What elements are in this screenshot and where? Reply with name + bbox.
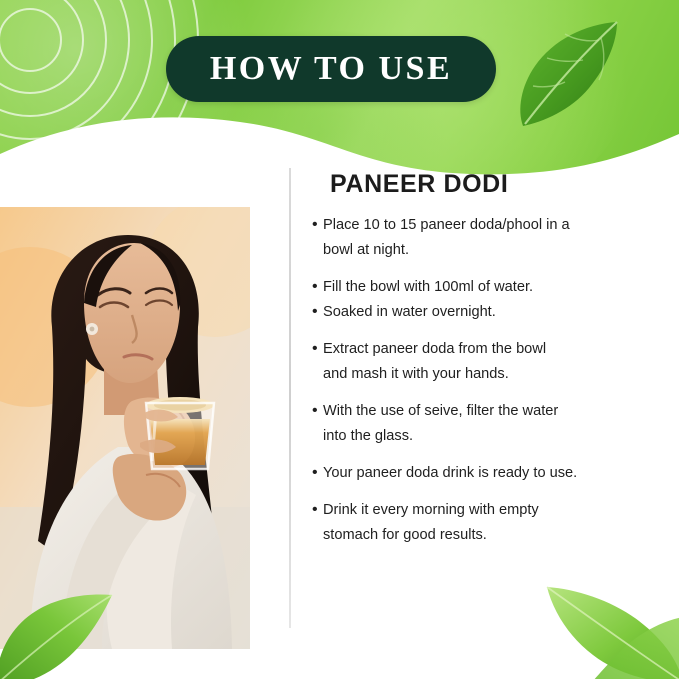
banner-title: HOW TO USE bbox=[210, 50, 452, 88]
bullet-icon: • bbox=[312, 300, 323, 324]
bullet-icon: • bbox=[312, 399, 323, 423]
instruction-group-1: • Place 10 to 15 paneer doda/phool in a … bbox=[312, 213, 664, 262]
list-item-text: bowl at night. bbox=[323, 238, 664, 262]
list-item-text: Your paneer doda drink is ready to use. bbox=[323, 461, 664, 485]
list-item-continuation: and mash it with your hands. bbox=[312, 362, 664, 386]
list-item: • Fill the bowl with 100ml of water. bbox=[312, 275, 664, 299]
vertical-divider bbox=[289, 168, 291, 628]
list-item-text: With the use of seive, filter the water bbox=[323, 399, 664, 423]
list-item-continuation: stomach for good results. bbox=[312, 523, 664, 547]
instruction-group-2: • Fill the bowl with 100ml of water. • S… bbox=[312, 275, 664, 324]
instruction-group-6: • Drink it every morning with empty stom… bbox=[312, 498, 664, 547]
instruction-group-3: • Extract paneer doda from the bowl and … bbox=[312, 337, 664, 386]
list-item-continuation: into the glass. bbox=[312, 424, 664, 448]
list-item: • Your paneer doda drink is ready to use… bbox=[312, 461, 664, 485]
list-item-text: Drink it every morning with empty bbox=[323, 498, 664, 522]
list-item-text: Fill the bowl with 100ml of water. bbox=[323, 275, 664, 299]
list-item-text: stomach for good results. bbox=[323, 523, 664, 547]
how-to-use-infographic: PANEER DODI • Place 10 to 15 paneer doda… bbox=[0, 0, 679, 679]
product-usage-photo bbox=[0, 207, 250, 649]
instruction-group-4: • With the use of seive, filter the wate… bbox=[312, 399, 664, 448]
instruction-group-5: • Your paneer doda drink is ready to use… bbox=[312, 461, 664, 485]
list-item: • Extract paneer doda from the bowl bbox=[312, 337, 664, 361]
list-item: • Place 10 to 15 paneer doda/phool in a bbox=[312, 213, 664, 237]
list-item-text: and mash it with your hands. bbox=[323, 362, 664, 386]
list-item-text: Place 10 to 15 paneer doda/phool in a bbox=[323, 213, 664, 237]
instructions-panel: PANEER DODI • Place 10 to 15 paneer doda… bbox=[312, 170, 664, 560]
bullet-icon: • bbox=[312, 275, 323, 299]
list-item: • With the use of seive, filter the wate… bbox=[312, 399, 664, 423]
list-item: • Drink it every morning with empty bbox=[312, 498, 664, 522]
list-item-text: Soaked in water overnight. bbox=[323, 300, 664, 324]
list-item-continuation: bowl at night. bbox=[312, 238, 664, 262]
leaf-icon bbox=[543, 583, 679, 679]
bullet-icon: • bbox=[312, 213, 323, 237]
title-pill: HOW TO USE bbox=[166, 36, 496, 102]
bullet-icon: • bbox=[312, 498, 323, 522]
list-item: • Soaked in water overnight. bbox=[312, 300, 664, 324]
list-item-text: Extract paneer doda from the bowl bbox=[323, 337, 664, 361]
leaf-icon bbox=[0, 593, 116, 679]
page-title: PANEER DODI bbox=[330, 170, 664, 199]
bullet-icon: • bbox=[312, 337, 323, 361]
bullet-icon: • bbox=[312, 461, 323, 485]
list-item-text: into the glass. bbox=[323, 424, 664, 448]
